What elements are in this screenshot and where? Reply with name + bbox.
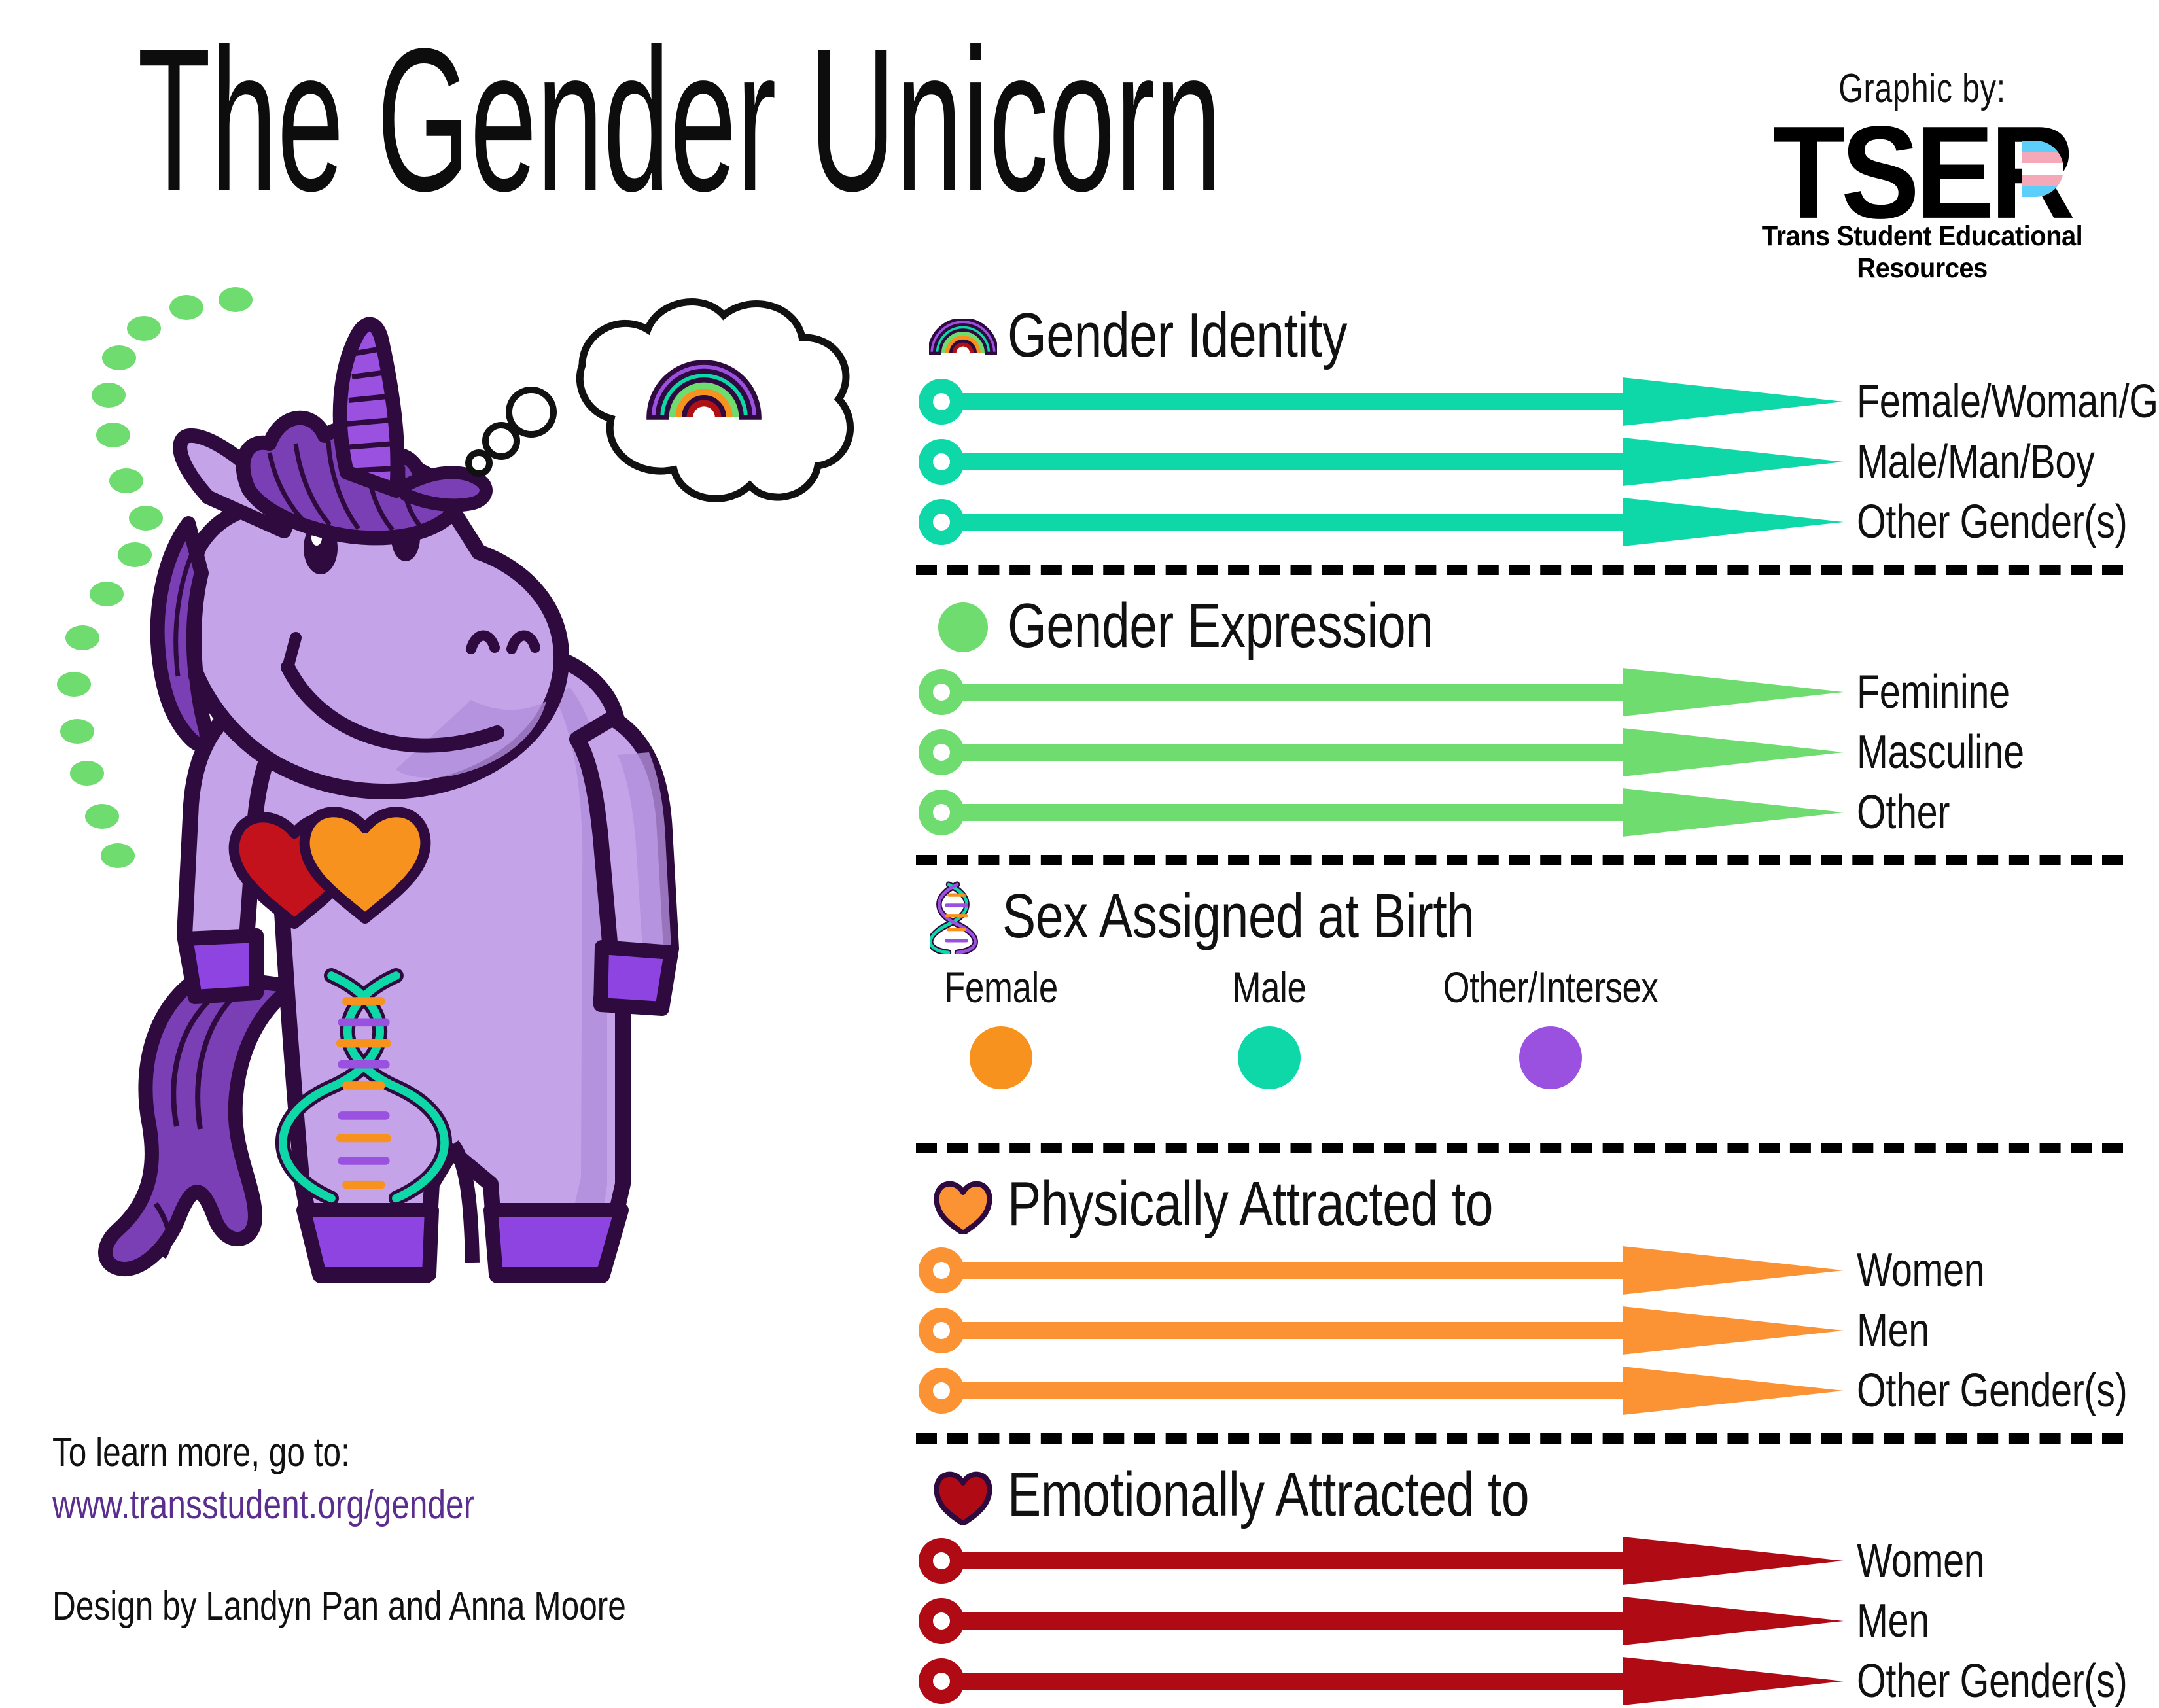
website-url-text: www.transstudent.org/gender [52,1482,474,1528]
design-credit: Design by Landyn Pan and Anna Moore [52,1583,769,1630]
spectrum-row[interactable]: Other Gender(s) [916,1656,2123,1707]
sex-option-dot [970,1026,1032,1089]
sex-option-label: Female [933,962,1069,1012]
section-header: Gender Expression [928,588,2123,667]
sex-option-label: Other/Intersex [1441,962,1660,1012]
learn-more-label: To learn more, go to: [52,1429,425,1476]
spectrum-arrow[interactable] [916,1365,1845,1416]
spectrum-row[interactable]: Other Gender(s) [916,1365,2123,1416]
section-sex-assigned-at-birth: Sex Assigned at Birth Female Male Other/… [916,879,2123,1126]
spectrum-row-label: Other Gender(s) [1857,1364,2127,1418]
spectrum-row-label: Women [1857,1534,1984,1588]
sex-option-male[interactable]: Male [1184,962,1354,1089]
spectrum-panel: Gender Identity Female/Woman/Girl [916,298,2123,1707]
website-url-link[interactable]: www.transstudent.org/gender [52,1482,580,1528]
section-emotionally-attracted-to: Emotionally Attracted to Women [916,1457,2123,1707]
rainbow-icon [928,304,998,370]
spectrum-row[interactable]: Female/Woman/Girl [916,376,2123,427]
orange-heart-icon [928,1173,998,1238]
green-circle-icon [928,595,998,660]
section-title: Gender Expression [1008,590,1433,662]
sex-option-label: Male [1201,962,1337,1012]
learn-more-text: To learn more, go to: [52,1429,350,1476]
section-header: Physically Attracted to [928,1166,2123,1245]
spectrum-arrow[interactable] [916,1305,1845,1356]
section-header: Sex Assigned at Birth [922,879,2123,957]
page-title-text: The Gender Unicorn [137,25,1221,217]
spectrum-row-label: Male/Man/Boy [1857,435,2094,489]
sex-options-row: Female Male Other/Intersex [916,962,2123,1126]
spectrum-arrow[interactable] [916,787,1845,838]
spectrum-arrow[interactable] [916,1595,1845,1647]
spectrum-arrow[interactable] [916,727,1845,778]
spectrum-arrow[interactable] [916,1656,1845,1707]
page-title: The Gender Unicorn [137,25,1642,221]
thought-bubble [468,302,851,499]
spectrum-arrow[interactable] [916,1535,1845,1586]
spectrum-rows: Women Men [916,1245,2123,1416]
dna-icon [922,885,993,950]
spectrum-row[interactable]: Feminine [916,667,2123,718]
spectrum-row[interactable]: Women [916,1535,2123,1586]
section-divider [916,1143,2123,1153]
spectrum-row[interactable]: Other [916,787,2123,838]
tser-logo-wordmark: TSER [1719,114,2125,232]
red-heart-icon [928,1463,998,1529]
section-header: Gender Identity [928,298,2123,376]
spectrum-row[interactable]: Male/Man/Boy [916,436,2123,487]
sex-option-female[interactable]: Female [916,962,1086,1089]
spectrum-row-label: Other [1857,786,1950,839]
spectrum-row[interactable]: Other Gender(s) [916,497,2123,548]
spectrum-arrow[interactable] [916,667,1845,718]
section-title: Gender Identity [1008,300,1347,372]
spectrum-row-label: Men [1857,1304,1929,1357]
unicorn-illustration [39,281,877,1393]
spectrum-row[interactable]: Women [916,1245,2123,1296]
sex-option-dot [1238,1026,1301,1089]
spectrum-row-label: Feminine [1857,665,2010,719]
sex-option-other-intersex[interactable]: Other/Intersex [1413,962,1688,1089]
spectrum-row-label: Other Gender(s) [1857,1654,2127,1708]
section-title: Sex Assigned at Birth [1002,880,1475,952]
spectrum-rows: Feminine Masculine [916,667,2123,838]
section-divider [916,1433,2123,1444]
spectrum-arrow[interactable] [916,436,1845,487]
spectrum-arrow[interactable] [916,497,1845,548]
section-physically-attracted-to: Physically Attracted to Women [916,1166,2123,1416]
spectrum-arrow[interactable] [916,376,1845,427]
spectrum-row-label: Men [1857,1594,1929,1648]
spectrum-row-label: Women [1857,1244,1984,1297]
section-gender-expression: Gender Expression Feminine [916,588,2123,838]
spectrum-arrow[interactable] [916,1245,1845,1296]
unicorn-character [105,302,851,1276]
sex-option-dot [1519,1026,1582,1089]
spectrum-row[interactable]: Men [916,1305,2123,1356]
tser-credit-block: Graphic by: TSER Trans Student Education… [1719,65,2125,285]
spectrum-rows: Women Men [916,1535,2123,1707]
spectrum-row[interactable]: Men [916,1595,2123,1647]
tser-logo: TSER [1719,114,2125,219]
design-credit-text: Design by Landyn Pan and Anna Moore [52,1583,626,1630]
section-gender-identity: Gender Identity Female/Woman/Girl [916,298,2123,548]
spectrum-row[interactable]: Masculine [916,727,2123,778]
spectrum-row-label: Female/Woman/Girl [1857,375,2159,428]
spectrum-rows: Female/Woman/Girl Male/Man/Boy [916,376,2123,548]
spectrum-row-label: Masculine [1857,725,2024,779]
section-divider [916,565,2123,575]
section-title: Physically Attracted to [1008,1168,1493,1240]
spectrum-row-label: Other Gender(s) [1857,495,2127,549]
section-header: Emotionally Attracted to [928,1457,2123,1535]
tser-logo-subtitle: Trans Student Educational Resources [1734,220,2111,285]
section-divider [916,855,2123,865]
section-title: Emotionally Attracted to [1008,1459,1529,1531]
